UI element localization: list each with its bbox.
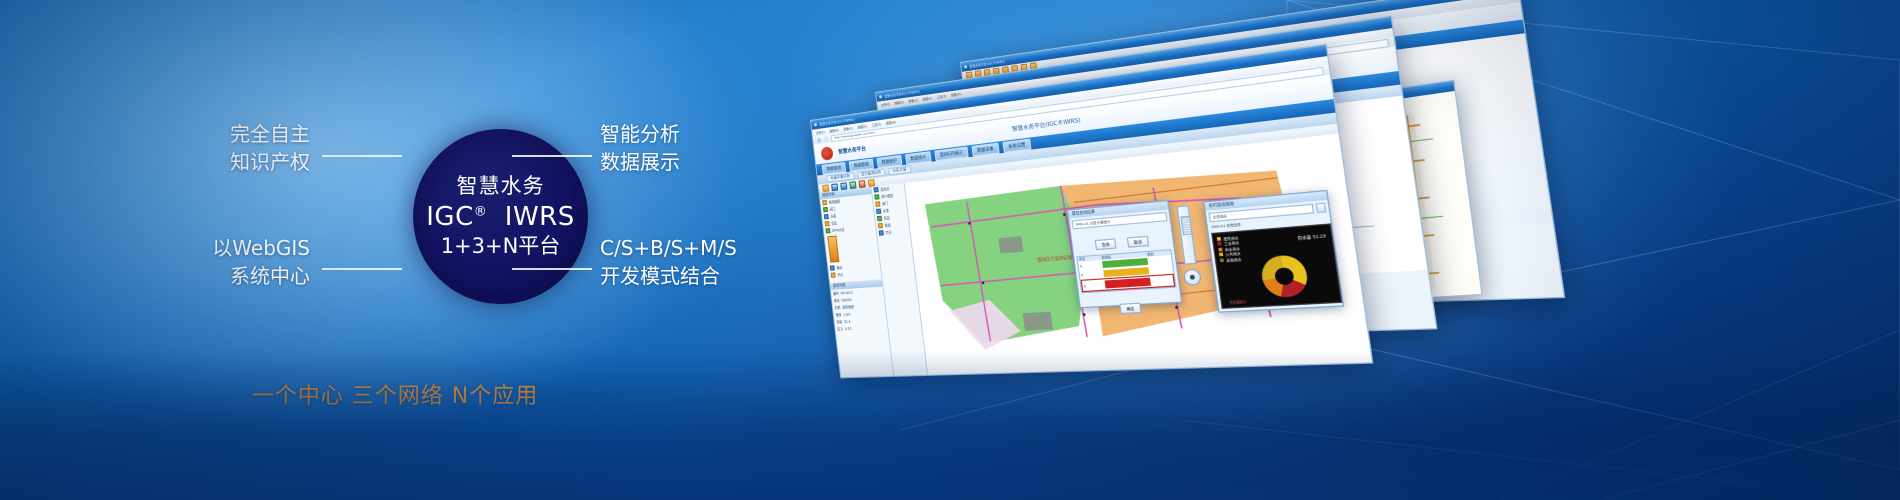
label-bottom-left: 以WebGIS 系统中心 bbox=[115, 234, 310, 291]
legend-swatch-icon bbox=[1217, 237, 1221, 241]
titlebar-dot-icon bbox=[814, 123, 817, 126]
app-title-front: 智慧水务平台(IGC®IWRS) bbox=[1011, 116, 1081, 133]
center-brand-igc: IGC bbox=[426, 202, 473, 232]
node-icon bbox=[873, 187, 878, 193]
legend-swatch-icon bbox=[1218, 247, 1222, 251]
layer-swatch-icon bbox=[825, 221, 830, 226]
feature-item[interactable]: 节点 bbox=[877, 227, 910, 237]
node-icon bbox=[878, 223, 883, 229]
attr-key: 管径 bbox=[834, 298, 840, 303]
tagline: 一个中心 三个网络 N个应用 bbox=[0, 378, 790, 410]
menu-item[interactable]: 工具(T) bbox=[936, 93, 946, 98]
row-spacer bbox=[1149, 269, 1173, 271]
feature-label: 管段 bbox=[884, 222, 891, 228]
node-icon bbox=[876, 209, 881, 215]
layer-label: 泵站 bbox=[831, 220, 837, 226]
layer-label: DMA分区 bbox=[832, 227, 845, 233]
pie-chart-panel: 居民用水 工业用水 商业用水 公共用水 其他用水 供水量 52.29 供水量统计 bbox=[1211, 223, 1342, 309]
menu-item[interactable]: 编辑(E) bbox=[829, 128, 839, 133]
feature-label: 阀门 bbox=[882, 200, 889, 206]
menu-item[interactable]: 查看(V) bbox=[843, 126, 853, 131]
layer-swatch-icon bbox=[830, 265, 835, 270]
concept-diagram: 智慧水务 IGC® IWRS 1+3+N平台 完全自主 知识产权 智能分析 数据… bbox=[0, 0, 820, 500]
legend-swatch-icon bbox=[1220, 258, 1224, 262]
menu-item[interactable]: 工具(T) bbox=[871, 121, 881, 126]
menu-item[interactable]: 收藏(A) bbox=[922, 96, 932, 101]
screenshot-stack: 智慧水务平台(IGC®IWRS) 数据查询 bbox=[790, 0, 1900, 500]
center-line3: 1+3+N平台 bbox=[441, 234, 561, 259]
node-icon bbox=[877, 216, 882, 222]
connector-top-left bbox=[322, 155, 402, 157]
attr-key: 压力 bbox=[837, 326, 843, 331]
menu-item[interactable]: 帮助(H) bbox=[886, 119, 897, 125]
layer-swatch-icon bbox=[822, 200, 827, 206]
layer-swatch-icon bbox=[824, 214, 829, 219]
menu-item[interactable]: 文件(F) bbox=[881, 101, 890, 106]
titlebar-dot-icon bbox=[964, 65, 967, 68]
row-index: 1 bbox=[1079, 262, 1103, 268]
connector-top-right bbox=[512, 155, 592, 157]
feature-label: 监测点 bbox=[880, 186, 890, 192]
layer-label: 水表 bbox=[830, 213, 836, 219]
label-top-right-line2: 数据展示 bbox=[600, 148, 790, 176]
menu-item[interactable]: 收藏(A) bbox=[857, 124, 867, 129]
brand-name-front: 智慧水务平台 bbox=[838, 144, 866, 155]
label-top-left-line2: 知识产权 bbox=[120, 148, 310, 176]
label-bottom-right: C/S+B/S+M/S 开发模式结合 bbox=[600, 234, 810, 291]
water-drop-logo-icon bbox=[820, 146, 833, 161]
label-bottom-left-line1: 以WebGIS bbox=[115, 234, 310, 262]
attr-key: 流量 bbox=[836, 319, 842, 324]
row-spacer bbox=[1148, 260, 1172, 262]
menu-item[interactable]: 查看(V) bbox=[908, 98, 918, 103]
attr-key: 材质 bbox=[834, 305, 840, 310]
legend-swatch-icon bbox=[1218, 242, 1222, 246]
attr-val: PN-0012 bbox=[840, 290, 853, 295]
attr-val: 球墨铸铁 bbox=[842, 304, 854, 310]
legend-swatch-icon bbox=[1219, 253, 1223, 257]
menu-item[interactable]: 编辑(E) bbox=[894, 100, 904, 105]
label-bottom-left-line2: 系统中心 bbox=[115, 262, 310, 290]
feature-label: 泵站 bbox=[883, 215, 890, 221]
node-icon bbox=[875, 201, 880, 207]
center-line2: IGC® IWRS bbox=[426, 202, 574, 233]
forward-arrow-icon[interactable] bbox=[824, 136, 829, 142]
label-top-left: 完全自主 知识产权 bbox=[120, 120, 310, 177]
query-dialog-ok-button[interactable]: 确定 bbox=[1119, 303, 1142, 315]
attr-key: 埋深 bbox=[835, 312, 841, 317]
label-top-left-line1: 完全自主 bbox=[120, 120, 310, 148]
layer-label: 节点 bbox=[837, 272, 843, 278]
menu-item[interactable]: 文件(F) bbox=[816, 129, 825, 134]
attr-row: 压力0.32 bbox=[835, 323, 888, 333]
menu-item[interactable]: 帮助(H) bbox=[951, 91, 962, 97]
row-spacer bbox=[1150, 280, 1173, 281]
query-dialog[interactable]: 属性查询结果 DMA-01 分区计量统计 查询 取消 序号 监测值 状态 bbox=[1067, 200, 1182, 308]
row-index: 2 bbox=[1080, 271, 1104, 277]
row-index: 3 bbox=[1082, 282, 1105, 288]
layer-label: 阀门 bbox=[829, 206, 835, 212]
back-arrow-icon[interactable] bbox=[817, 137, 822, 143]
center-brand-iwrs: IWRS bbox=[505, 202, 575, 232]
layer-label: 管段 bbox=[836, 265, 842, 271]
legend-ramp bbox=[827, 236, 839, 263]
status-bar-alarm bbox=[1105, 278, 1151, 289]
pie-center-label: 供水量 52.29 bbox=[1297, 233, 1326, 241]
connector-bottom-right bbox=[512, 268, 592, 270]
attr-val: DN300 bbox=[841, 297, 851, 302]
banner-stage: 智慧水务 IGC® IWRS 1+3+N平台 完全自主 知识产权 智能分析 数据… bbox=[0, 0, 1900, 500]
layer-swatch-icon bbox=[823, 207, 828, 212]
attr-val: 0.32 bbox=[845, 326, 852, 330]
attr-val: 1.8m bbox=[843, 312, 851, 317]
layer-swatch-icon bbox=[831, 272, 836, 277]
monitor-dialog[interactable]: 实时监控面板 全部测点 DMA-01 在线监测 居民用水 工业用水 商业用水 公 bbox=[1203, 190, 1344, 313]
label-bottom-right-line1: C/S+B/S+M/S bbox=[600, 234, 810, 262]
registered-icon: ® bbox=[474, 205, 488, 220]
node-icon bbox=[879, 230, 884, 236]
layer-swatch-icon bbox=[825, 228, 830, 233]
center-line1: 智慧水务 bbox=[457, 174, 545, 199]
label-top-right: 智能分析 数据展示 bbox=[600, 120, 790, 177]
attr-val: 52.4 bbox=[844, 319, 851, 323]
query-dialog-search-button[interactable]: 查询 bbox=[1094, 238, 1117, 250]
attr-key: 编号 bbox=[833, 291, 839, 296]
pie-legend-item: 其他用水 bbox=[1220, 257, 1242, 264]
connector-bottom-left bbox=[322, 268, 402, 270]
label-bottom-right-line2: 开发模式结合 bbox=[600, 262, 810, 290]
node-icon bbox=[874, 194, 879, 200]
feature-label: 水表 bbox=[883, 208, 890, 214]
chevron-down-icon[interactable] bbox=[1316, 203, 1327, 214]
feature-label: 节点 bbox=[885, 229, 892, 235]
label-top-right-line1: 智能分析 bbox=[600, 120, 790, 148]
pie-title: 供水量统计 bbox=[1229, 299, 1246, 305]
pie-chart bbox=[1259, 254, 1310, 298]
titlebar-dot-icon bbox=[879, 95, 882, 98]
query-dialog-table: 序号 监测值 状态 1 2 bbox=[1076, 249, 1176, 293]
query-dialog-cancel-button[interactable]: 取消 bbox=[1126, 236, 1149, 248]
